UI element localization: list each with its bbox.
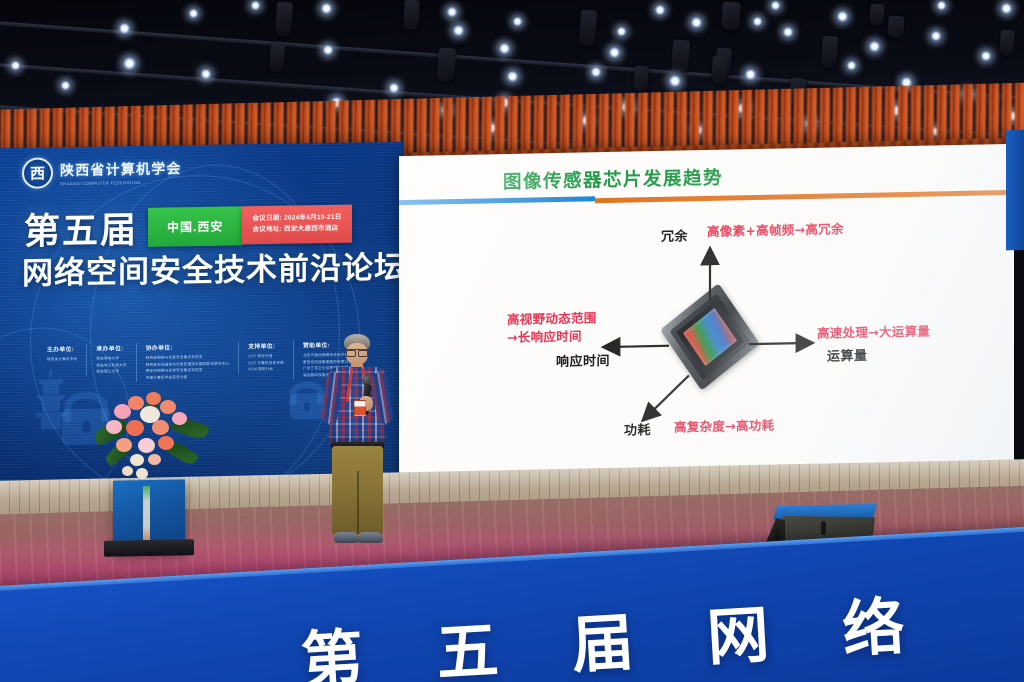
spotlight-fixture <box>403 0 420 30</box>
arrow-left <box>605 346 669 347</box>
spotlight-fixture <box>721 1 741 30</box>
spotlight-fixture <box>579 9 597 46</box>
location-tag: 中国.西安 <box>148 206 242 246</box>
stage-lamp <box>452 24 465 37</box>
flower <box>172 412 187 425</box>
spotlight-fixture <box>275 1 293 36</box>
meeting-venue-line: 会议地址: 西安大唐西市酒店 <box>252 224 341 236</box>
side-blue-panel <box>1006 130 1024 251</box>
meeting-meta-tag: 会议日期: 2024年4月19-21日 会议地址: 西安大唐西市酒店 <box>242 205 351 244</box>
sponsor-column: 支持单位: CCF 西安分部 CCF 计算机安全专委 ACM 西安分会 <box>238 341 293 374</box>
stage-lamp <box>752 16 763 27</box>
flower <box>106 420 122 434</box>
projection-screen: 图像传感器芯片发展趋势 冗余 高像素+高帧频→高冗余 高速处理→大运算量 <box>399 144 1014 494</box>
flower <box>126 420 144 436</box>
shoe <box>358 532 383 543</box>
flower <box>148 454 161 465</box>
sponsor-line: ACM 西安分会 <box>248 366 284 373</box>
sponsor-line: 陕西省计算机学会 <box>47 356 77 363</box>
stage-lamp <box>930 30 942 42</box>
stage-lamp <box>654 4 666 16</box>
federation-name-cn: 陕西省计算机学会 <box>60 158 182 180</box>
flower <box>158 436 174 450</box>
stage-lamp <box>868 40 881 53</box>
flower <box>114 404 131 419</box>
annotation-dynamic-range-line1: 高视野动态范围 <box>507 310 597 329</box>
stage-lamp <box>770 0 781 11</box>
stage-lamp <box>590 66 602 78</box>
stage-lamp <box>690 16 703 29</box>
monitor-handle-slot <box>821 521 826 535</box>
forum-title: 网络空间安全技术前沿论坛 <box>22 242 404 293</box>
spotlight-fixture <box>887 15 904 38</box>
stage-lamp <box>668 74 682 88</box>
stage-lamp <box>122 56 137 71</box>
stage-lamp <box>980 50 992 62</box>
trousers <box>332 446 383 534</box>
flower <box>160 400 176 414</box>
stage-lamp <box>608 46 621 59</box>
spotlight-fixture <box>671 39 690 74</box>
axis-label-redundancy: 冗余 <box>661 225 688 245</box>
sponsor-column: 承办单位: 西安邮电大学 西安电子科技大学 西安理工大学 <box>86 343 135 376</box>
spotlight-fixture <box>999 30 1015 57</box>
federation-seal-icon: 西 <box>22 157 53 188</box>
stage-lamp <box>506 70 519 83</box>
federation-logo: 西 陕西省计算机学会 SHAANXI COMPUTER FEDERATION <box>22 155 182 189</box>
flower <box>138 438 155 453</box>
stage-lamp <box>616 26 627 37</box>
name-badge <box>354 400 366 416</box>
flower-arrangement <box>92 390 208 490</box>
flower <box>130 454 144 466</box>
spotlight-fixture <box>269 43 285 72</box>
axis-label-computation: 运算量 <box>827 345 868 365</box>
spotlight-fixture <box>869 4 885 27</box>
stage-lamp <box>1000 2 1013 15</box>
sponsor-heading: 协办单位: <box>146 342 229 352</box>
radial-arrow-group <box>399 144 1014 494</box>
sponsor-heading: 承办单位: <box>96 343 126 352</box>
sponsor-line: 中国计算机学会西安分部 <box>146 373 229 381</box>
sponsor-line: 西安理工大学 <box>96 368 126 375</box>
stage-lamp <box>446 6 458 18</box>
flower <box>146 392 161 405</box>
sponsor-heading: 主办单位: <box>47 344 77 353</box>
spotlight-fixture <box>821 36 838 69</box>
flower <box>122 466 133 476</box>
stage-lamp <box>200 68 212 80</box>
axis-label-response-time: 响应时间 <box>556 350 610 370</box>
stage-lamp <box>118 22 131 35</box>
stage-lamp <box>10 60 21 71</box>
conference-stage-photo: 西 陕西省计算机学会 SHAANXI COMPUTER FEDERATION 第… <box>0 0 1024 682</box>
stage-lamp <box>846 60 857 71</box>
arrow-right <box>749 343 811 344</box>
arrow-down-left <box>644 375 689 419</box>
stage-lamp <box>498 42 511 55</box>
stage-lamp <box>936 0 947 11</box>
axis-label-power: 功耗 <box>624 419 651 439</box>
flower <box>152 420 169 435</box>
sponsor-column: 协办单位: 陕西省网络与信息安全重点实验室 陕西省无线通信与信息处理技术国际联合… <box>136 341 238 381</box>
stage-lamp <box>320 2 333 15</box>
stage-lamp <box>782 26 794 38</box>
spotlight-fixture <box>437 47 456 82</box>
spotlight-fixture <box>633 66 649 93</box>
foreground-banner-text: 第 五 届 网 络 <box>298 574 932 682</box>
lectern-base <box>104 539 194 557</box>
shoe <box>334 532 359 543</box>
stage-lamp <box>60 80 71 91</box>
sponsor-column: 主办单位: 陕西省计算机学会 <box>47 344 86 363</box>
annotation-power: 高复杂度→高功耗 <box>674 418 774 437</box>
stage-lamp <box>250 0 261 11</box>
lectern-stripe <box>143 486 150 544</box>
federation-logo-text: 陕西省计算机学会 SHAANXI COMPUTER FEDERATION <box>60 158 182 186</box>
sponsor-heading: 支持单位: <box>248 341 284 351</box>
stage-lamp <box>512 16 523 27</box>
federation-name-en: SHAANXI COMPUTER FEDERATION <box>60 179 182 186</box>
annotation-computation: 高速处理→大运算量 <box>817 324 930 343</box>
flower <box>116 438 132 452</box>
stage-lamp <box>388 82 400 94</box>
spotlight-fixture <box>711 56 728 85</box>
flower <box>136 468 148 479</box>
stage-lamp <box>744 68 757 81</box>
annotation-redundancy: 高像素+高帧频→高冗余 <box>707 221 844 241</box>
glasses-icon <box>346 349 368 354</box>
speaker-person <box>318 334 398 562</box>
stage-lamp <box>188 8 199 19</box>
annotation-dynamic-range-line2: →长响应时间 <box>507 329 582 347</box>
stage-lamp <box>322 44 334 56</box>
stage-lamp <box>836 10 849 23</box>
